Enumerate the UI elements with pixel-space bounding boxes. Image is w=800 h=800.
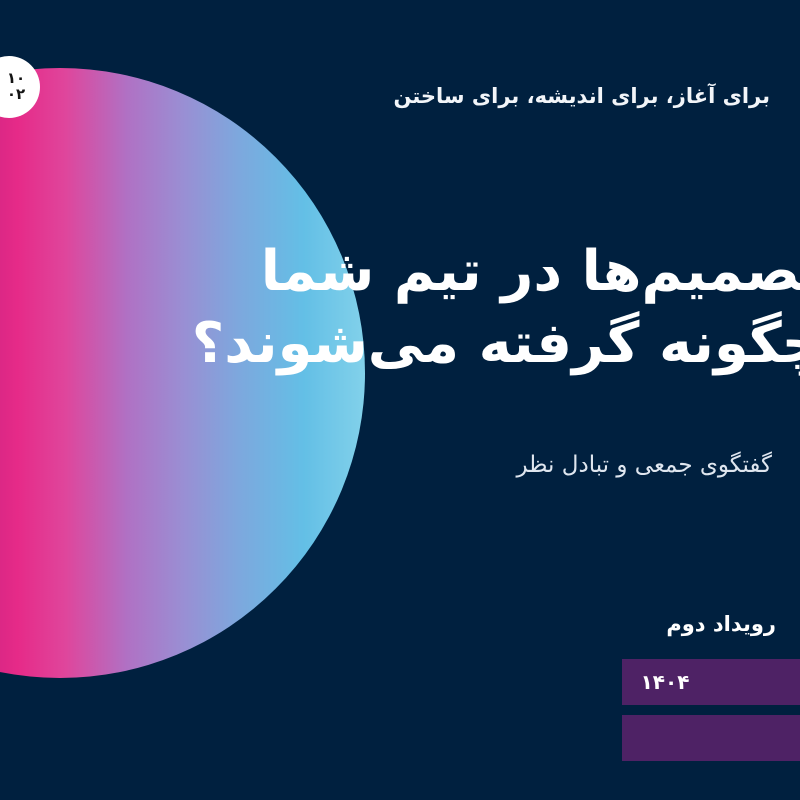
slide-content: برای آغاز، برای اندیشه، برای ساختن تصمیم… [0, 0, 800, 800]
event-slide: ۱۰ ۰۲ برای آغاز، برای اندیشه، برای ساختن… [0, 0, 800, 800]
page-title: تصمیم‌ها در تیم شما چگونه گرفته می‌شوند؟ [0, 236, 800, 379]
headline-line-2: چگونه گرفته می‌شوند؟ [0, 308, 800, 380]
date-chip-value: ۱۴۰۴ [641, 670, 690, 694]
date-badge-line-2: ۰۲ [7, 87, 25, 103]
event-label: رویداد دوم [0, 612, 776, 636]
time-chip [622, 715, 800, 761]
date-chip: ۱۴۰۴ [622, 659, 800, 705]
headline-line-1: تصمیم‌ها در تیم شما [0, 236, 800, 308]
eyebrow-text: برای آغاز، برای اندیشه، برای ساختن [0, 84, 770, 108]
subtitle-text: گفتگوی جمعی و تبادل نظر [0, 452, 772, 478]
